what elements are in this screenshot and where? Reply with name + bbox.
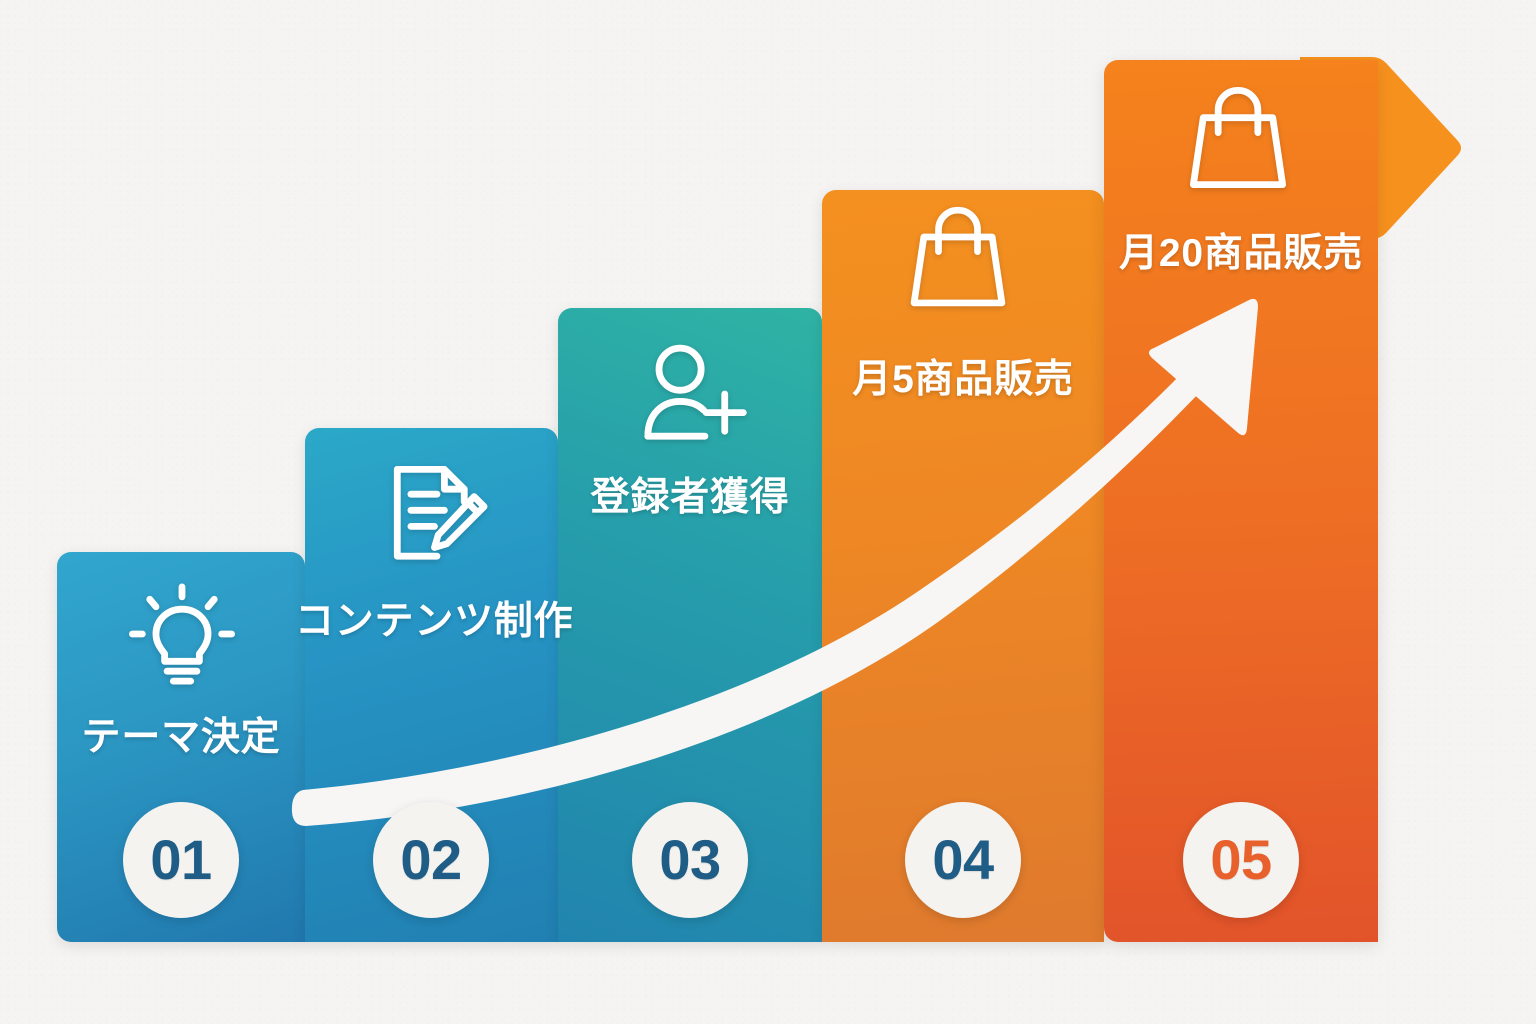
- step-title-04: 月5商品販売: [822, 348, 1104, 404]
- step-title-05: 月20商品販売: [1090, 222, 1392, 278]
- shopping-bag-icon-05: [1176, 78, 1300, 202]
- infographic-canvas: テーマ決定 01 コンテンツ制作 02: [0, 0, 1536, 1024]
- step-number-04: 04: [932, 832, 993, 888]
- user-plus-icon: [628, 332, 752, 456]
- step-number-badge-02[interactable]: 02: [373, 802, 489, 918]
- step-title-01: テーマ決定: [57, 706, 305, 762]
- step-title-02: コンテンツ制作: [295, 590, 568, 646]
- step-number-01: 01: [150, 832, 211, 888]
- document-edit-icon: [370, 452, 494, 576]
- step-number-02: 02: [400, 832, 461, 888]
- step-number-badge-03[interactable]: 03: [632, 802, 748, 918]
- step-number-05: 05: [1210, 832, 1271, 888]
- step-number-badge-05[interactable]: 05: [1183, 802, 1299, 918]
- step-number-badge-04[interactable]: 04: [905, 802, 1021, 918]
- shopping-bag-icon-04: [897, 198, 1019, 320]
- step-number-badge-01[interactable]: 01: [123, 802, 239, 918]
- step-number-03: 03: [659, 832, 720, 888]
- content-layer: テーマ決定 01 コンテンツ制作 02: [0, 0, 1536, 1024]
- lightbulb-icon: [120, 572, 244, 696]
- step-title-03: 登録者獲得: [558, 466, 822, 522]
